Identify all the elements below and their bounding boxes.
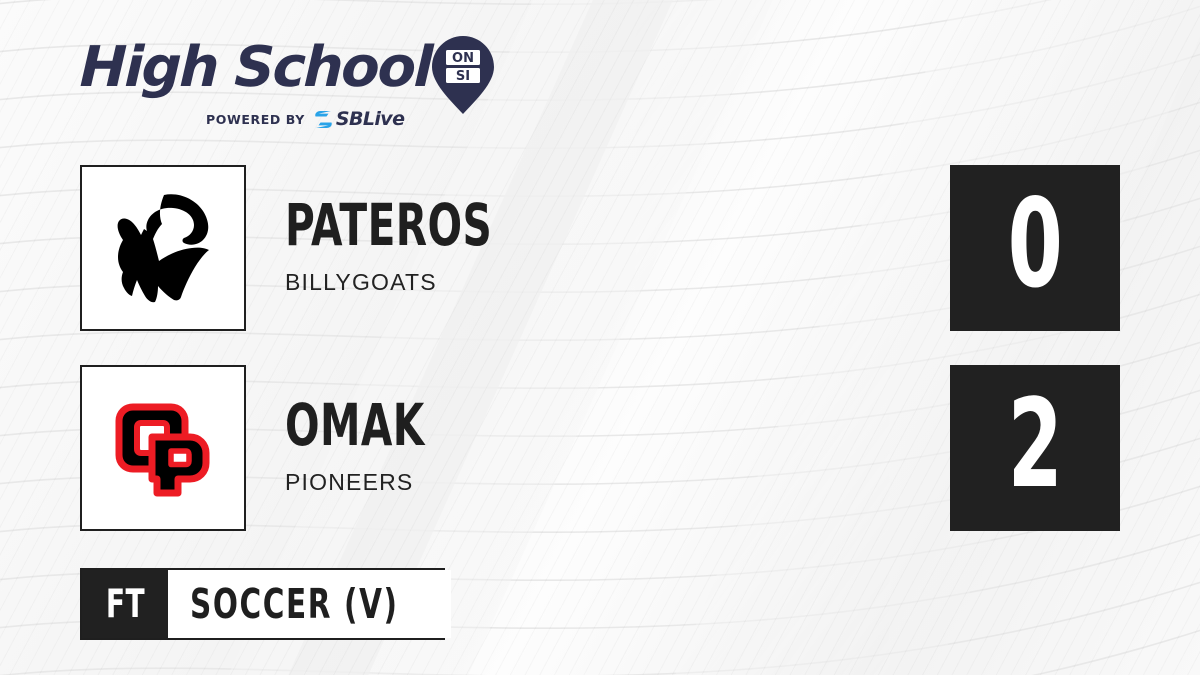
score-box: 0	[950, 165, 1120, 331]
team-mascot: BILLYGOATS	[285, 269, 925, 296]
score-value: 2	[1008, 383, 1063, 505]
sblive-wordmark: SBLive	[336, 110, 404, 129]
status-sport-box: SOCCER (V)	[168, 570, 451, 638]
team-row: PATEROS BILLYGOATS 0	[80, 165, 1120, 335]
powered-by-label: POWERED BY	[206, 112, 305, 127]
team-text-block: OMAK PIONEERS	[285, 397, 925, 496]
pin-text-on: ON	[452, 51, 474, 66]
status-period-label: FT	[105, 585, 144, 624]
pin-text-si: SI	[456, 69, 470, 84]
team-text-block: PATEROS BILLYGOATS	[285, 197, 925, 296]
powered-by-row: POWERED BY SBLive	[206, 108, 404, 130]
scoreboard-graphic: High School ON SI POWERED BY	[0, 0, 1200, 675]
status-sport-label: SOCCER (V)	[190, 584, 399, 625]
billygoat-head-icon	[111, 193, 215, 303]
sblive-lockup: SBLive	[314, 110, 404, 129]
score-value: 0	[1008, 183, 1063, 305]
brand-header: High School ON SI POWERED BY	[80, 36, 510, 136]
score-box: 2	[950, 365, 1120, 531]
status-period-box: FT	[82, 570, 168, 638]
game-status-bar: FT SOCCER (V)	[80, 568, 445, 640]
team-mascot: PIONEERS	[285, 469, 925, 496]
team-logo-box	[80, 365, 246, 531]
on-si-pin-icon: ON SI	[432, 36, 494, 114]
brand-wordmark: High School	[79, 40, 432, 96]
team-name: OMAK	[285, 397, 784, 454]
team-row: OMAK PIONEERS 2	[80, 365, 1120, 535]
sblive-s-mark-icon	[314, 110, 333, 129]
op-monogram-icon	[108, 393, 218, 503]
team-name: PATEROS	[285, 197, 784, 254]
team-logo-box	[80, 165, 246, 331]
